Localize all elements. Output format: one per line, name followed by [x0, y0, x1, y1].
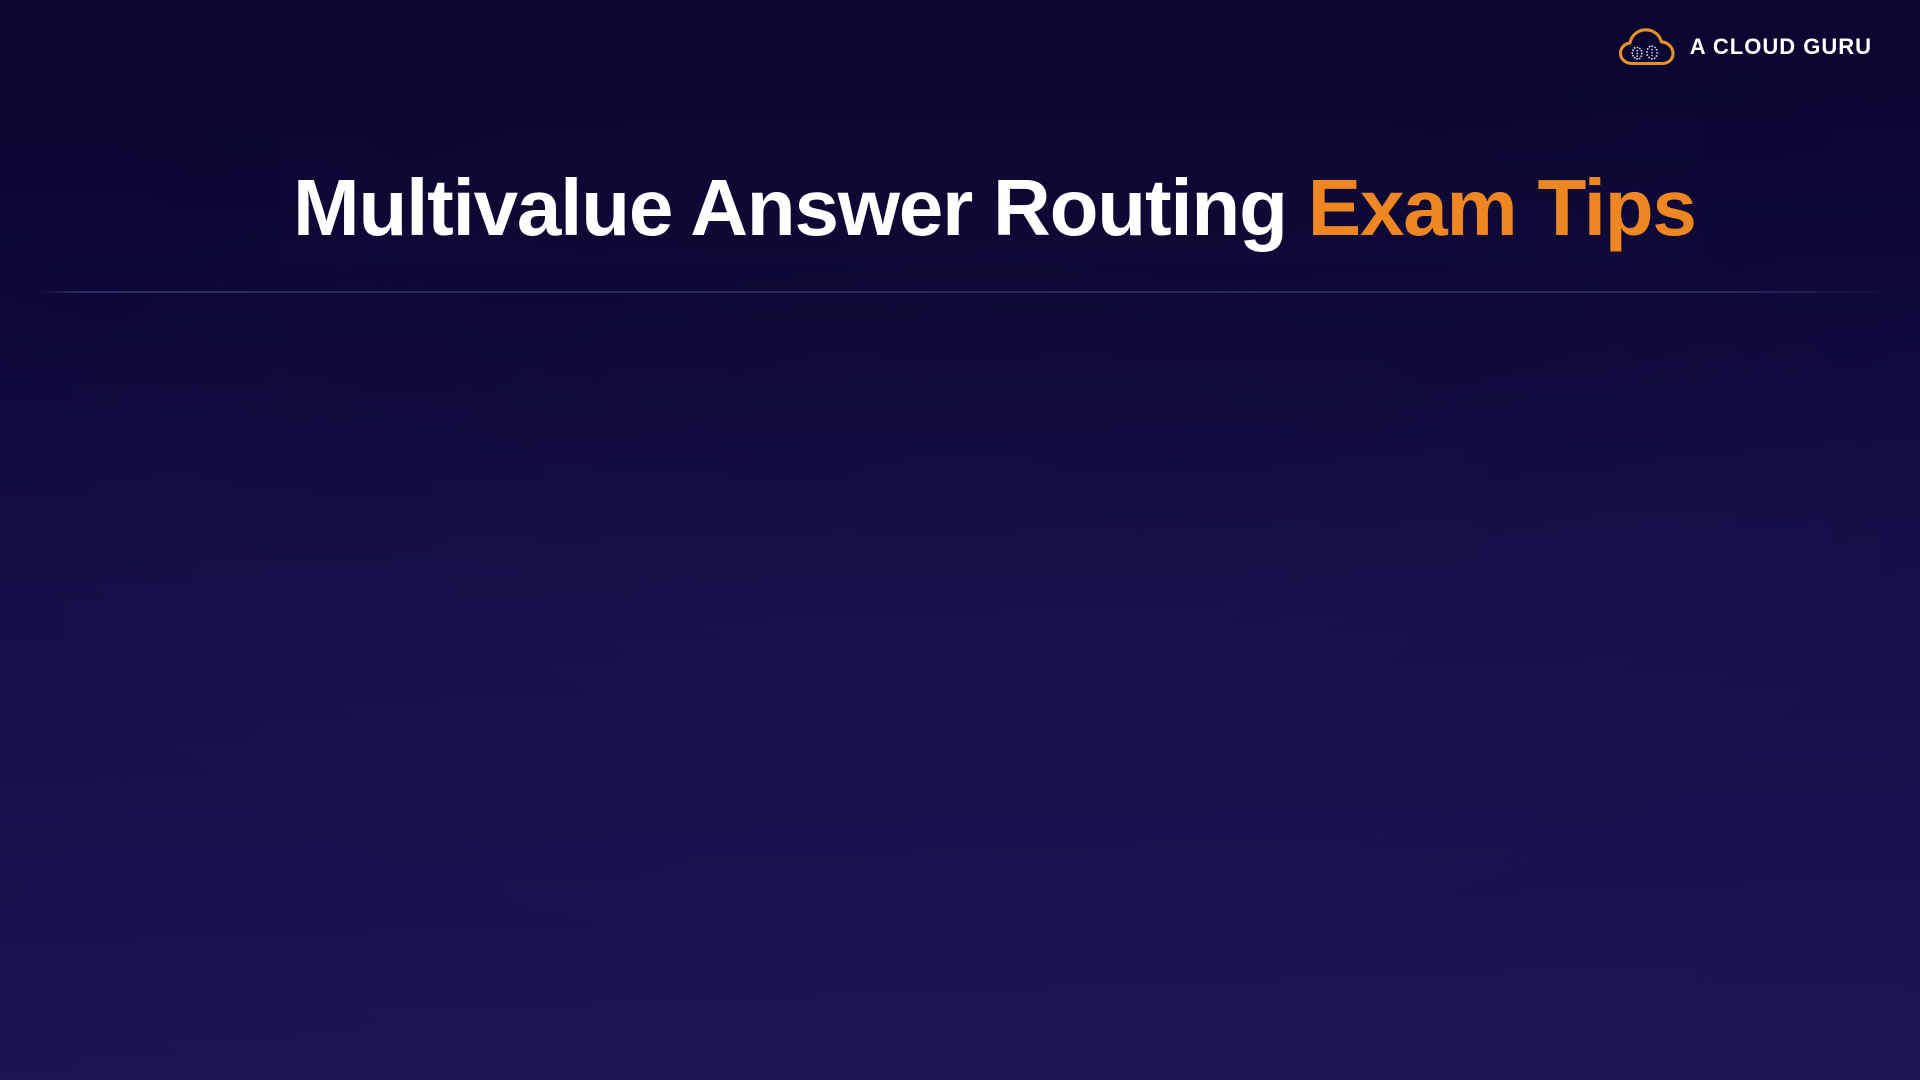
- page-title-main: Multivalue Answer Routing: [293, 163, 1287, 252]
- page-title: Multivalue Answer Routing Exam Tips: [0, 168, 1920, 248]
- brand-name: A CLOUD GURU: [1690, 36, 1872, 58]
- presentation-slide: A CLOUD GURU Multivalue Answer Routing E…: [0, 0, 1920, 1080]
- slide-body: [42, 300, 1880, 1040]
- brand-logo: A CLOUD GURU: [1618, 27, 1872, 67]
- cloud-icon: [1618, 27, 1676, 67]
- page-title-accent: Exam Tips: [1308, 163, 1696, 252]
- title-divider: [42, 291, 1880, 293]
